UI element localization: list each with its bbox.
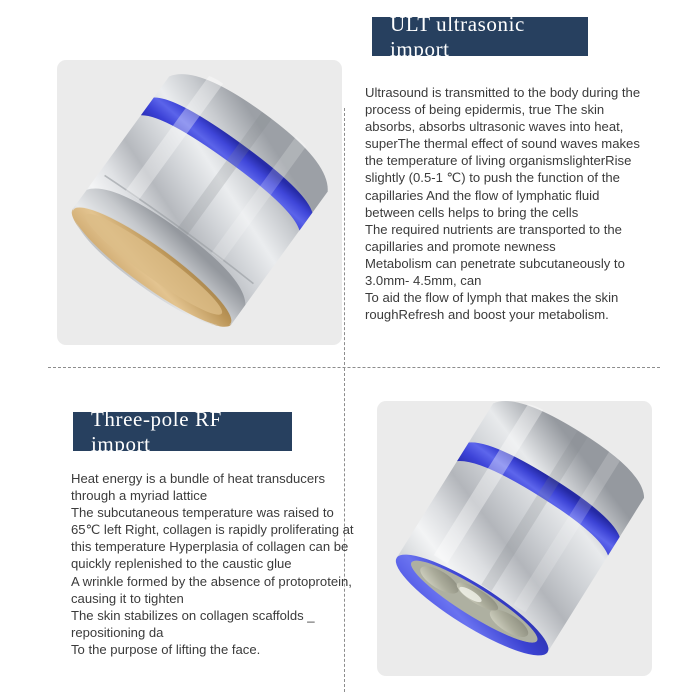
section-title-three-pole-rf: Three-pole RF import: [73, 412, 292, 451]
vertical-divider-top: [344, 108, 345, 370]
three-pole-rf-handpiece-photo: [377, 401, 652, 676]
section-body-three-pole-rf: Heat energy is a bundle of heat transduc…: [71, 470, 371, 658]
section-body-ultrasonic: Ultrasound is transmitted to the body du…: [365, 84, 655, 323]
ultrasonic-handpiece-photo: [57, 60, 342, 345]
horizontal-divider: [48, 367, 660, 368]
section-title-ultrasonic: ULT ultrasonic import: [372, 17, 588, 56]
